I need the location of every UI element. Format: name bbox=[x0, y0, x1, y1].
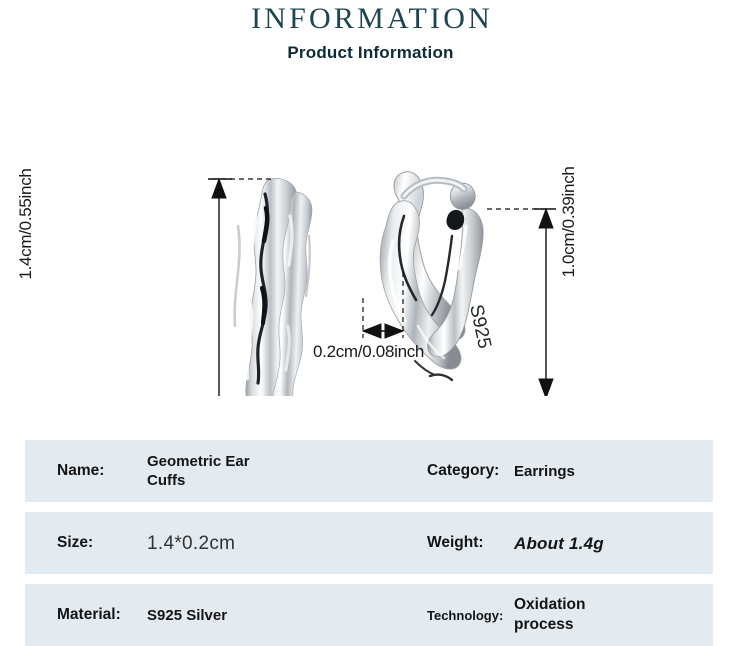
table-row: Material: S925 Silver Technology: Oxidat… bbox=[25, 584, 713, 646]
spec-value-technology: Oxidation process bbox=[514, 595, 629, 635]
product-spec-table: Name: Geometric Ear Cuffs Category: Earr… bbox=[25, 440, 713, 646]
spec-cell-name: Name: Geometric Ear Cuffs bbox=[25, 440, 385, 502]
spec-cell-size: Size: 1.4*0.2cm bbox=[25, 512, 385, 574]
spec-value-material: S925 Silver bbox=[147, 606, 227, 625]
page-header: INFORMATION Product Information bbox=[0, 0, 741, 64]
spec-label-technology: Technology: bbox=[427, 608, 514, 623]
spec-cell-material: Material: S925 Silver bbox=[25, 584, 385, 646]
hallmark-text: S925 bbox=[465, 303, 495, 351]
spec-label-size: Size: bbox=[57, 534, 147, 552]
page-subtitle: Product Information bbox=[0, 42, 741, 64]
spec-label-name: Name: bbox=[57, 462, 147, 480]
spec-label-material: Material: bbox=[57, 606, 147, 624]
table-row: Name: Geometric Ear Cuffs Category: Earr… bbox=[25, 440, 713, 502]
earring-side-view bbox=[235, 179, 312, 396]
spec-cell-category: Category: Earrings bbox=[385, 440, 713, 502]
table-row: Size: 1.4*0.2cm Weight: About 1.4g bbox=[25, 512, 713, 574]
spec-value-name: Geometric Ear Cuffs bbox=[147, 452, 267, 490]
spec-value-size: 1.4*0.2cm bbox=[147, 534, 235, 553]
product-figure: S925 bbox=[0, 76, 741, 396]
spec-value-category: Earrings bbox=[514, 462, 575, 481]
spec-cell-weight: Weight: About 1.4g bbox=[385, 512, 713, 574]
spec-label-category: Category: bbox=[427, 462, 514, 480]
page-title: INFORMATION bbox=[0, 2, 741, 36]
dimension-label-height-right: 1.0cm/0.39inch bbox=[559, 142, 579, 302]
dimension-label-width-bottom: 0.2cm/0.08inch bbox=[313, 342, 424, 362]
spec-label-weight: Weight: bbox=[427, 534, 514, 552]
spec-value-weight: About 1.4g bbox=[514, 534, 604, 553]
dimension-label-height-left: 1.4cm/0.55inch bbox=[16, 144, 36, 304]
spec-cell-technology: Technology: Oxidation process bbox=[385, 584, 713, 646]
